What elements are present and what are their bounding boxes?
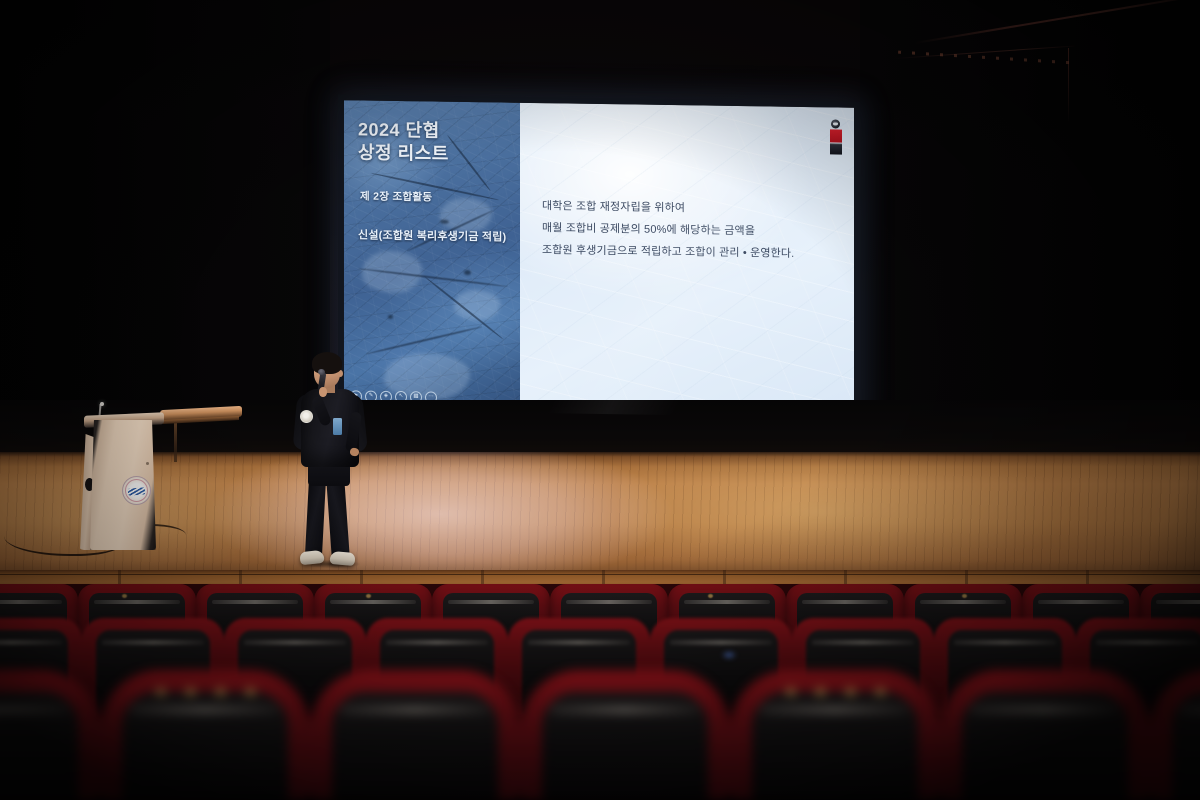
organization-emblem-icon bbox=[831, 119, 840, 128]
seat-marker bbox=[708, 594, 713, 598]
stage-edge-seam bbox=[0, 574, 1200, 575]
seat-trim bbox=[812, 640, 914, 645]
organization-logo bbox=[829, 119, 842, 154]
seat-trim bbox=[920, 600, 1006, 604]
seat-row-front bbox=[0, 670, 1200, 800]
seat-trim bbox=[1156, 600, 1200, 604]
seat-marker bbox=[366, 594, 371, 598]
seat-trim bbox=[340, 706, 490, 714]
slide-body-line: 조합원 후생기금으로 적립하고 조합이 관리 • 운영한다. bbox=[542, 239, 842, 265]
logo-dark-band bbox=[830, 143, 842, 154]
slide-title: 2024 단협 상정 리스트 bbox=[358, 118, 449, 165]
seat bbox=[520, 670, 730, 800]
lectern-front-panel bbox=[90, 420, 156, 550]
presenter-hand-left bbox=[319, 387, 327, 397]
seat-marker bbox=[122, 594, 127, 598]
seat bbox=[940, 670, 1150, 800]
seat bbox=[0, 670, 100, 800]
seat-trim bbox=[0, 600, 62, 604]
seat-trim bbox=[212, 600, 298, 604]
presentation-slide: 2024 단협 상정 리스트 제 2장 조합활동 신설(조합원 복리후생기금 적… bbox=[344, 100, 854, 418]
auditorium-scene: 2024 단협 상정 리스트 제 2장 조합활동 신설(조합원 복리후생기금 적… bbox=[0, 0, 1200, 800]
presenter-shoe-left bbox=[299, 550, 324, 565]
seat-trim bbox=[670, 640, 772, 645]
slide-subtitle: 제 2장 조합활동 bbox=[360, 188, 432, 204]
seat bbox=[1150, 670, 1200, 800]
seat-trim bbox=[94, 600, 180, 604]
stage-wall-right bbox=[860, 0, 1200, 460]
seat bbox=[100, 670, 310, 800]
seat-markers bbox=[156, 688, 256, 696]
seat-trim bbox=[1038, 600, 1124, 604]
logo-red-band bbox=[830, 129, 842, 142]
university-emblem-icon bbox=[122, 476, 151, 505]
stage-light-wash-pink bbox=[180, 452, 680, 572]
presenter-leg-left bbox=[305, 478, 326, 557]
slide-text-panel: 대학은 조합 재정자립을 위하여 매월 조합비 공제분의 50%에 해당하는 금… bbox=[520, 103, 854, 418]
side-table-leg bbox=[174, 420, 177, 462]
presenter bbox=[284, 352, 380, 574]
seat bbox=[310, 670, 520, 800]
presenter-name-badge bbox=[333, 418, 342, 435]
screen-reflection-glint bbox=[718, 648, 740, 662]
slide-body-text: 대학은 조합 재정자립을 위하여 매월 조합비 공제분의 50%에 해당하는 금… bbox=[542, 195, 842, 265]
presenter-shoe-right bbox=[329, 551, 355, 566]
seat-trim bbox=[1096, 640, 1198, 645]
seat-trim bbox=[550, 706, 700, 714]
audience-seating bbox=[0, 584, 1200, 800]
presenter-leg-right bbox=[326, 477, 350, 558]
texture-spot bbox=[440, 220, 449, 224]
lighting-truss-drop bbox=[1068, 48, 1069, 123]
slide-agenda-item: 신설(조합원 복리후생기금 적립) bbox=[358, 226, 506, 244]
seat-trim bbox=[0, 706, 70, 714]
seat-trim bbox=[244, 640, 346, 645]
seat-trim bbox=[684, 600, 770, 604]
seat-trim bbox=[386, 640, 488, 645]
texture-spot bbox=[464, 270, 471, 275]
presenter-hair bbox=[312, 352, 342, 374]
seat-trim bbox=[802, 600, 888, 604]
seat-trim bbox=[566, 600, 652, 604]
seat-trim bbox=[0, 640, 62, 645]
seat bbox=[730, 670, 940, 800]
seat-trim bbox=[330, 600, 416, 604]
seat-trim bbox=[970, 706, 1120, 714]
seat-trim bbox=[1180, 706, 1200, 714]
seat-trim bbox=[448, 600, 534, 604]
seat-marker bbox=[962, 594, 967, 598]
seat-trim bbox=[760, 706, 910, 714]
emblem-wave-mark bbox=[128, 487, 145, 495]
jacket-patch-icon bbox=[300, 410, 313, 423]
texture-spot bbox=[388, 315, 393, 319]
lectern bbox=[78, 404, 164, 552]
stage-light-wash-warm bbox=[620, 452, 1180, 572]
microphone-head-icon bbox=[100, 402, 104, 406]
lectern-knob bbox=[146, 462, 149, 465]
seat-trim bbox=[102, 640, 204, 645]
seat-trim bbox=[130, 706, 280, 714]
seat-trim bbox=[954, 640, 1056, 645]
seat-markers bbox=[786, 688, 886, 696]
seat-trim bbox=[528, 640, 630, 645]
